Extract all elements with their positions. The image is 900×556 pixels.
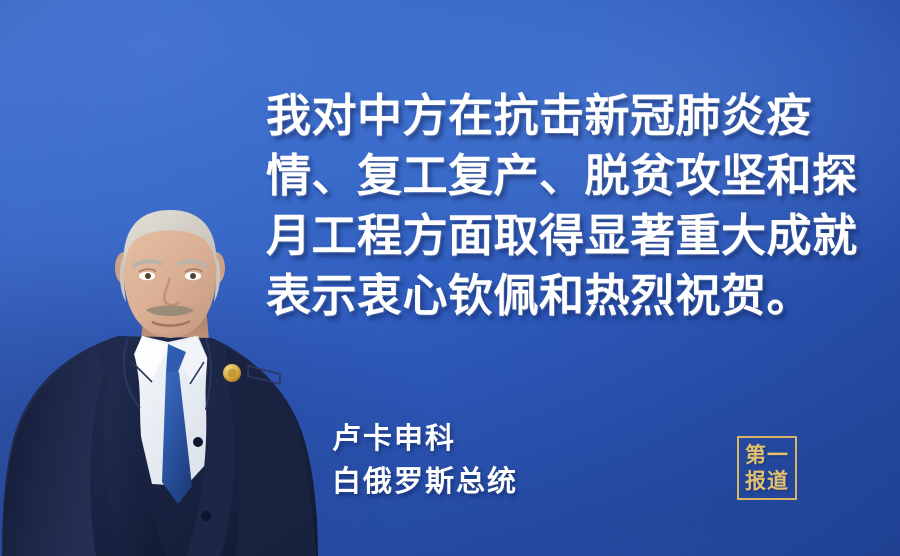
- badge-line-2: 报道: [745, 469, 789, 493]
- quote-text: 我对中方在抗击新冠肺炎疫情、复工复产、脱贫攻坚和探月工程方面取得显著重大成就表示…: [266, 86, 872, 326]
- speaker-title: 白俄罗斯总统: [332, 461, 518, 504]
- quote-card: 我对中方在抗击新冠肺炎疫情、复工复产、脱贫攻坚和探月工程方面取得显著重大成就表示…: [0, 0, 900, 556]
- speaker-name: 卢卡申科: [332, 418, 518, 461]
- brand-badge: 第一 报道: [737, 436, 797, 500]
- badge-line-1: 第一: [745, 443, 789, 467]
- attribution: 卢卡申科 白俄罗斯总统: [332, 418, 518, 504]
